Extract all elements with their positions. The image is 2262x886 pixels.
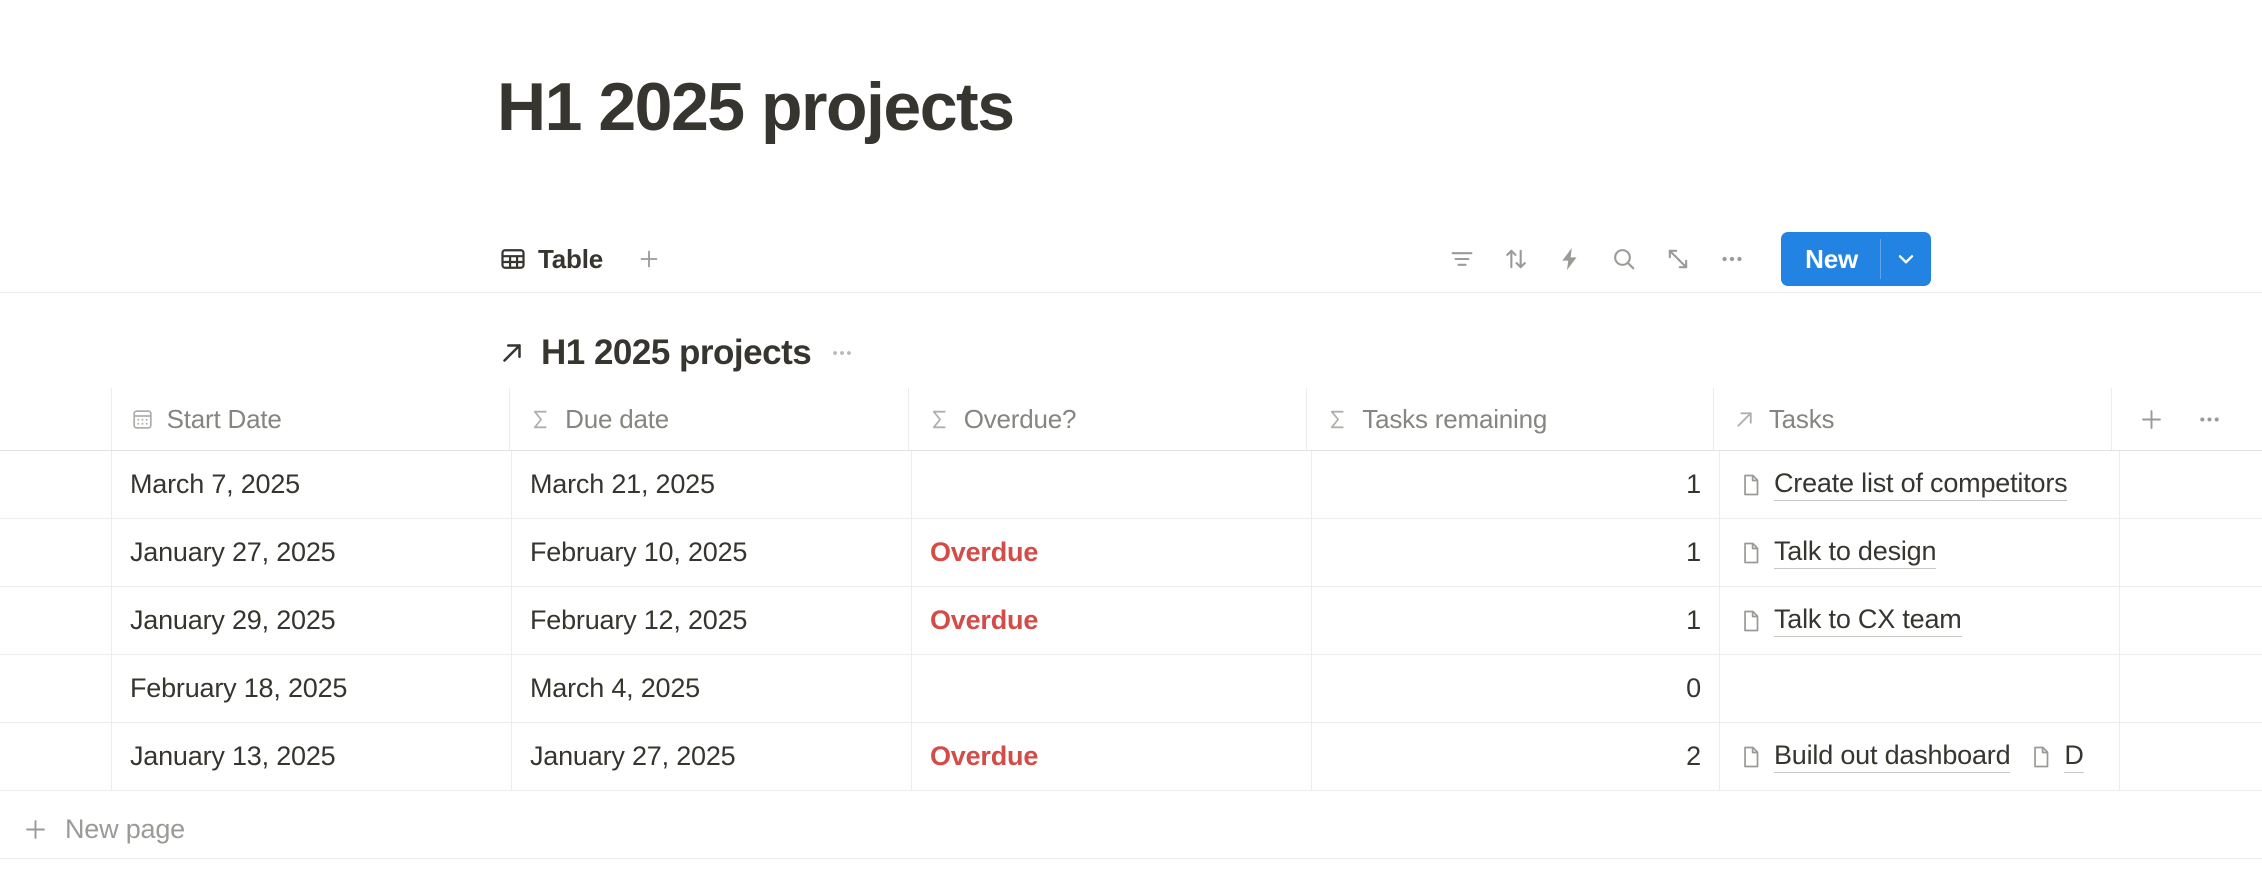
status-badge: Overdue [930, 537, 1038, 568]
cell-start-date[interactable]: January 29, 2025 [112, 587, 512, 654]
cell-tasks-remaining[interactable]: 0 [1312, 655, 1720, 722]
row-cell-tail [2120, 451, 2262, 518]
cell-due-date[interactable]: March 21, 2025 [512, 451, 912, 518]
search-icon [1610, 245, 1638, 273]
task-relation-label: D [2064, 740, 2083, 773]
table-more-button[interactable] [2188, 398, 2230, 440]
task-relation-label: Create list of competitors [1774, 468, 2067, 501]
task-relation-chip[interactable]: Create list of competitors [1738, 468, 2067, 501]
row-cell-pad [0, 519, 112, 586]
formula-icon [1325, 407, 1350, 432]
filter-button[interactable] [1435, 236, 1489, 282]
toolbar-divider [0, 292, 2262, 293]
row-cell-tail [2120, 519, 2262, 586]
cell-overdue[interactable]: Overdue [912, 587, 1312, 654]
add-property-button[interactable] [2130, 398, 2172, 440]
header-cell-overdue[interactable]: Overdue? [909, 388, 1308, 450]
page-icon [2028, 744, 2054, 770]
cell-tasks[interactable]: Build out dashboardD [1720, 723, 2120, 790]
table-row[interactable]: February 18, 2025March 4, 20250 [0, 655, 2262, 723]
plus-icon [2138, 406, 2165, 433]
view-more-button[interactable] [1705, 236, 1759, 282]
sort-button[interactable] [1489, 236, 1543, 282]
cell-tasks[interactable] [1720, 655, 2120, 722]
cell-tasks-remaining[interactable]: 1 [1312, 519, 1720, 586]
cell-tasks[interactable]: Talk to CX team [1720, 587, 2120, 654]
automations-button[interactable] [1543, 236, 1597, 282]
tab-table-label: Table [538, 244, 603, 275]
filter-icon [1448, 245, 1476, 273]
status-badge: Overdue [930, 605, 1038, 636]
cell-tasks-remaining[interactable]: 2 [1312, 723, 1720, 790]
plus-icon [636, 246, 662, 272]
header-actions [2130, 398, 2244, 440]
page-icon [1738, 472, 1764, 498]
row-cell-tail [2120, 655, 2262, 722]
new-button-dropdown[interactable] [1881, 232, 1931, 286]
ellipsis-icon [2196, 406, 2223, 433]
task-relation-chip[interactable]: Build out dashboard [1738, 740, 2010, 773]
cell-overdue[interactable] [912, 655, 1312, 722]
new-button-label: New [1781, 232, 1880, 286]
database-table: Start Date Due date Overdue? [0, 388, 2262, 791]
table-row[interactable]: January 29, 2025February 12, 2025Overdue… [0, 587, 2262, 655]
cell-tasks-remaining[interactable]: 1 [1312, 451, 1720, 518]
plus-icon [22, 816, 49, 843]
cell-start-date[interactable]: January 27, 2025 [112, 519, 512, 586]
cell-start-date[interactable]: February 18, 2025 [112, 655, 512, 722]
page-title: H1 2025 projects [497, 72, 1014, 143]
row-cell-pad [0, 587, 112, 654]
footer-divider [0, 858, 2262, 859]
header-label-tasks-remaining: Tasks remaining [1362, 404, 1547, 435]
database-title-row: H1 2025 projects [497, 328, 859, 378]
row-cell-tail [2120, 723, 2262, 790]
header-cell-tasks-remaining[interactable]: Tasks remaining [1307, 388, 1714, 450]
cell-tasks-remaining[interactable]: 1 [1312, 587, 1720, 654]
view-toolbar-actions: New [1435, 232, 1931, 286]
new-page-button[interactable]: New page [0, 800, 2262, 858]
cell-overdue[interactable]: Overdue [912, 723, 1312, 790]
new-button[interactable]: New [1781, 232, 1931, 286]
calendar-icon [130, 407, 155, 432]
database-title[interactable]: H1 2025 projects [541, 333, 811, 373]
chevron-down-icon [1893, 246, 1919, 272]
header-cell-due-date[interactable]: Due date [510, 388, 909, 450]
row-cell-pad [0, 723, 112, 790]
task-relation-label: Build out dashboard [1774, 740, 2010, 773]
page-icon [1738, 744, 1764, 770]
table-icon [499, 245, 527, 273]
table-row[interactable]: January 13, 2025January 27, 2025Overdue2… [0, 723, 2262, 791]
cell-overdue[interactable] [912, 451, 1312, 518]
header-cell-tasks[interactable]: Tasks [1714, 388, 2113, 450]
header-label-due-date: Due date [565, 404, 669, 435]
table-row[interactable]: March 7, 2025March 21, 20251Create list … [0, 451, 2262, 519]
table-header-row: Start Date Due date Overdue? [0, 388, 2262, 451]
cell-due-date[interactable]: March 4, 2025 [512, 655, 912, 722]
add-view-button[interactable] [629, 239, 669, 279]
view-tabs: Table [497, 238, 669, 281]
task-relation-label: Talk to design [1774, 536, 1936, 569]
cell-tasks[interactable]: Talk to design [1720, 519, 2120, 586]
cell-start-date[interactable]: March 7, 2025 [112, 451, 512, 518]
table-body: March 7, 2025March 21, 20251Create list … [0, 451, 2262, 791]
page-icon [1738, 540, 1764, 566]
search-button[interactable] [1597, 236, 1651, 282]
cell-due-date[interactable]: January 27, 2025 [512, 723, 912, 790]
expand-button[interactable] [1651, 236, 1705, 282]
relation-icon [1732, 407, 1757, 432]
cell-due-date[interactable]: February 12, 2025 [512, 587, 912, 654]
task-relation-chip[interactable]: D [2028, 740, 2083, 773]
header-label-tasks: Tasks [1769, 404, 1834, 435]
task-relation-chip[interactable]: Talk to CX team [1738, 604, 1962, 637]
table-row[interactable]: January 27, 2025February 10, 2025Overdue… [0, 519, 2262, 587]
new-page-label: New page [65, 814, 185, 845]
task-relation-chip[interactable]: Talk to design [1738, 536, 1936, 569]
database-menu-button[interactable] [825, 336, 859, 370]
formula-icon [528, 407, 553, 432]
formula-icon [927, 407, 952, 432]
task-relation-label: Talk to CX team [1774, 604, 1962, 637]
status-badge: Overdue [930, 741, 1038, 772]
header-label-start-date: Start Date [167, 404, 282, 435]
row-cell-pad [0, 451, 112, 518]
row-cell-pad [0, 655, 112, 722]
header-cell-actions [2112, 388, 2262, 450]
sort-icon [1502, 245, 1530, 273]
header-label-overdue: Overdue? [964, 404, 1077, 435]
cell-start-date[interactable]: January 13, 2025 [112, 723, 512, 790]
lightning-icon [1556, 245, 1584, 273]
expand-icon [1664, 245, 1692, 273]
tab-table[interactable]: Table [497, 238, 613, 281]
ellipsis-icon [1718, 245, 1746, 273]
row-cell-tail [2120, 587, 2262, 654]
page-icon [1738, 608, 1764, 634]
arrow-up-right-icon [497, 338, 527, 368]
cell-due-date[interactable]: February 10, 2025 [512, 519, 912, 586]
header-cell-pad [0, 388, 112, 450]
header-cell-start-date[interactable]: Start Date [112, 388, 511, 450]
cell-overdue[interactable]: Overdue [912, 519, 1312, 586]
cell-tasks[interactable]: Create list of competitors [1720, 451, 2120, 518]
view-toolbar: Table [497, 228, 1931, 290]
